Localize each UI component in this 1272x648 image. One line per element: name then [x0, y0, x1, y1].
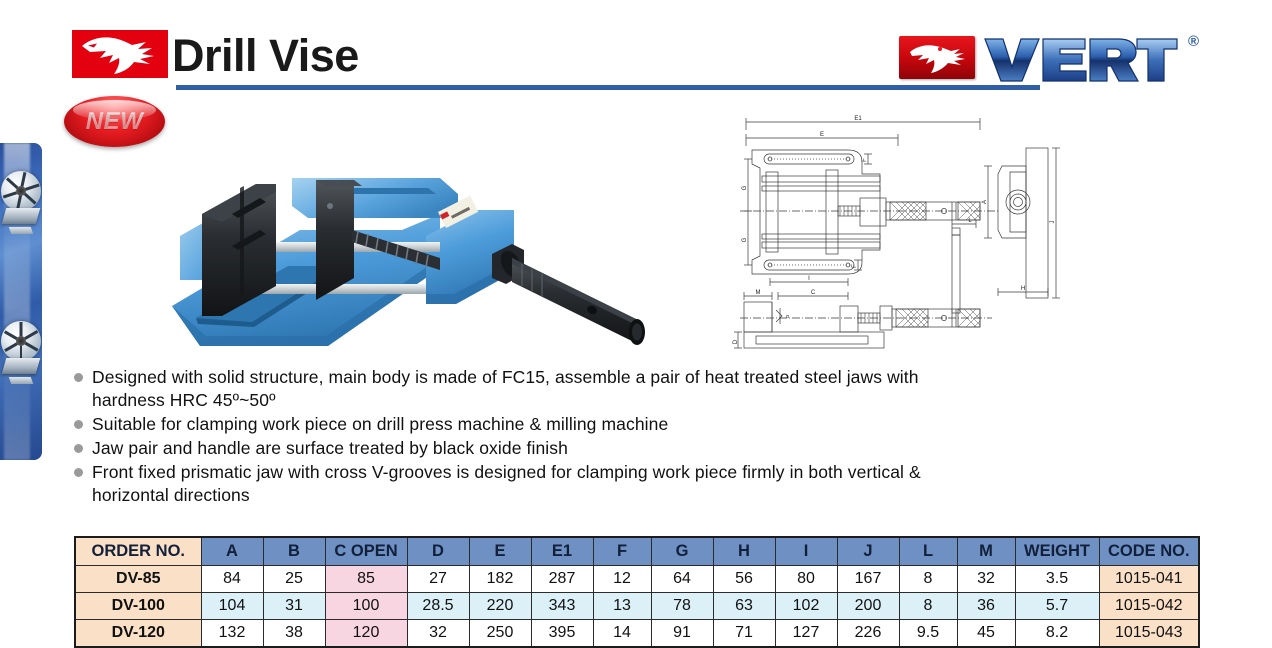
cell-i: 127: [775, 620, 837, 648]
rotary-table-disc: [1, 171, 41, 211]
cell-f: 12: [593, 566, 651, 593]
rotary-table-image-bottom: [1, 321, 41, 384]
col-header-b: B: [263, 537, 325, 566]
cell-h: 63: [713, 593, 775, 620]
cell-a: 104: [201, 593, 263, 620]
vertex-wordmark: [981, 31, 1189, 85]
cell-weight: 3.5: [1015, 566, 1099, 593]
side-decoration-strip: [0, 143, 42, 460]
eagle-head-icon: [72, 30, 168, 78]
table-header-row: ORDER NO. A B C OPEN D E E1 F G H I J L …: [75, 537, 1199, 566]
rotary-table-image-top: [1, 171, 41, 234]
technical-drawing: E1 E: [730, 110, 1100, 350]
cell-order-no: DV-120: [75, 620, 201, 648]
svg-text:G: G: [742, 237, 748, 242]
cell-b: 31: [263, 593, 325, 620]
svg-text:J: J: [1050, 221, 1056, 224]
catalog-page: Drill Vise NEW: [0, 0, 1272, 648]
cell-l: 8: [899, 593, 957, 620]
svg-text:E1: E1: [854, 116, 862, 122]
feature-item: Jaw pair and handle are surface treated …: [74, 437, 974, 460]
rotary-table-arm: [9, 227, 34, 234]
feature-text: Designed with solid structure, main body…: [92, 366, 974, 412]
cell-code-no: 1015-042: [1099, 593, 1199, 620]
col-header-weight: WEIGHT: [1015, 537, 1099, 566]
table-row: DV-120 132 38 120 32 250 395 14 91 71 12…: [75, 620, 1199, 648]
rotary-table-disc: [1, 321, 41, 361]
bullet-icon: [74, 468, 83, 477]
cell-c-open: 85: [325, 566, 407, 593]
bullet-icon: [74, 373, 83, 382]
rotary-table-arm: [9, 377, 34, 384]
col-header-j: J: [837, 537, 899, 566]
col-header-h: H: [713, 537, 775, 566]
bullet-icon: [74, 420, 83, 429]
col-header-e1: E1: [531, 537, 593, 566]
feature-text: Front fixed prismatic jaw with cross V-g…: [92, 461, 974, 507]
col-header-order-no: ORDER NO.: [75, 537, 201, 566]
svg-text:L: L: [968, 218, 972, 224]
feature-item: Suitable for clamping work piece on dril…: [74, 413, 974, 436]
svg-text:A: A: [982, 200, 988, 204]
feature-item: Front fixed prismatic jaw with cross V-g…: [74, 461, 974, 507]
cell-a: 132: [201, 620, 263, 648]
svg-text:C: C: [811, 290, 816, 296]
feature-text: Suitable for clamping work piece on dril…: [92, 413, 668, 436]
svg-text:F: F: [862, 158, 868, 162]
feature-text: Jaw pair and handle are surface treated …: [92, 437, 568, 460]
svg-text:H: H: [1021, 286, 1025, 292]
cell-weight: 5.7: [1015, 593, 1099, 620]
cell-i: 102: [775, 593, 837, 620]
cell-c-open: 100: [325, 593, 407, 620]
table-row: DV-100 104 31 100 28.5 220 343 13 78 63 …: [75, 593, 1199, 620]
svg-text:E: E: [820, 132, 824, 138]
cell-e: 182: [469, 566, 531, 593]
cell-d: 32: [407, 620, 469, 648]
cell-g: 64: [651, 566, 713, 593]
svg-text:D: D: [733, 339, 739, 344]
cell-c-open: 120: [325, 620, 407, 648]
table-row: DV-85 84 25 85 27 182 287 12 64 56 80 16…: [75, 566, 1199, 593]
svg-text:I: I: [808, 276, 810, 282]
cell-e1: 287: [531, 566, 593, 593]
bullet-icon: [74, 444, 83, 453]
registered-trademark-icon: ®: [1188, 33, 1199, 50]
cell-weight: 8.2: [1015, 620, 1099, 648]
cell-m: 32: [957, 566, 1015, 593]
cell-j: 167: [837, 566, 899, 593]
features-list: Designed with solid structure, main body…: [74, 366, 974, 509]
product-photo-drill-vise: [140, 118, 670, 363]
col-header-a: A: [201, 537, 263, 566]
cell-e1: 343: [531, 593, 593, 620]
col-header-m: M: [957, 537, 1015, 566]
cell-m: 36: [957, 593, 1015, 620]
col-header-code-no: CODE NO.: [1099, 537, 1199, 566]
col-header-i: I: [775, 537, 837, 566]
rotary-table-base: [2, 208, 41, 224]
cell-i: 80: [775, 566, 837, 593]
cell-e1: 395: [531, 620, 593, 648]
title-underline: [176, 85, 1040, 90]
cell-j: 226: [837, 620, 899, 648]
col-header-c-open: C OPEN: [325, 537, 407, 566]
cell-code-no: 1015-043: [1099, 620, 1199, 648]
cell-b: 25: [263, 566, 325, 593]
cell-d: 27: [407, 566, 469, 593]
cell-order-no: DV-85: [75, 566, 201, 593]
cell-e: 220: [469, 593, 531, 620]
cell-m: 45: [957, 620, 1015, 648]
cell-code-no: 1015-041: [1099, 566, 1199, 593]
cell-g: 91: [651, 620, 713, 648]
col-header-d: D: [407, 537, 469, 566]
cell-h: 71: [713, 620, 775, 648]
cell-f: 14: [593, 620, 651, 648]
cell-j: 200: [837, 593, 899, 620]
svg-text:G: G: [742, 185, 748, 190]
cell-e: 250: [469, 620, 531, 648]
vertex-eagle-icon: [899, 36, 975, 79]
cell-f: 13: [593, 593, 651, 620]
cell-h: 56: [713, 566, 775, 593]
cell-d: 28.5: [407, 593, 469, 620]
col-header-l: L: [899, 537, 957, 566]
svg-text:M: M: [756, 290, 761, 296]
specification-table-wrapper: ORDER NO. A B C OPEN D E E1 F G H I J L …: [74, 536, 1198, 648]
col-header-f: F: [593, 537, 651, 566]
cell-order-no: DV-100: [75, 593, 201, 620]
vertex-brand-logo: ®: [899, 31, 1199, 85]
svg-text:α: α: [786, 314, 789, 320]
cell-b: 38: [263, 620, 325, 648]
cell-l: 9.5: [899, 620, 957, 648]
col-header-g: G: [651, 537, 713, 566]
svg-text:F: F: [852, 264, 858, 268]
page-title: Drill Vise: [172, 33, 359, 78]
specification-table: ORDER NO. A B C OPEN D E E1 F G H I J L …: [74, 536, 1200, 648]
cell-a: 84: [201, 566, 263, 593]
col-header-e: E: [469, 537, 531, 566]
cell-l: 8: [899, 566, 957, 593]
rotary-table-base: [2, 358, 41, 374]
cell-g: 78: [651, 593, 713, 620]
feature-item: Designed with solid structure, main body…: [74, 366, 974, 412]
